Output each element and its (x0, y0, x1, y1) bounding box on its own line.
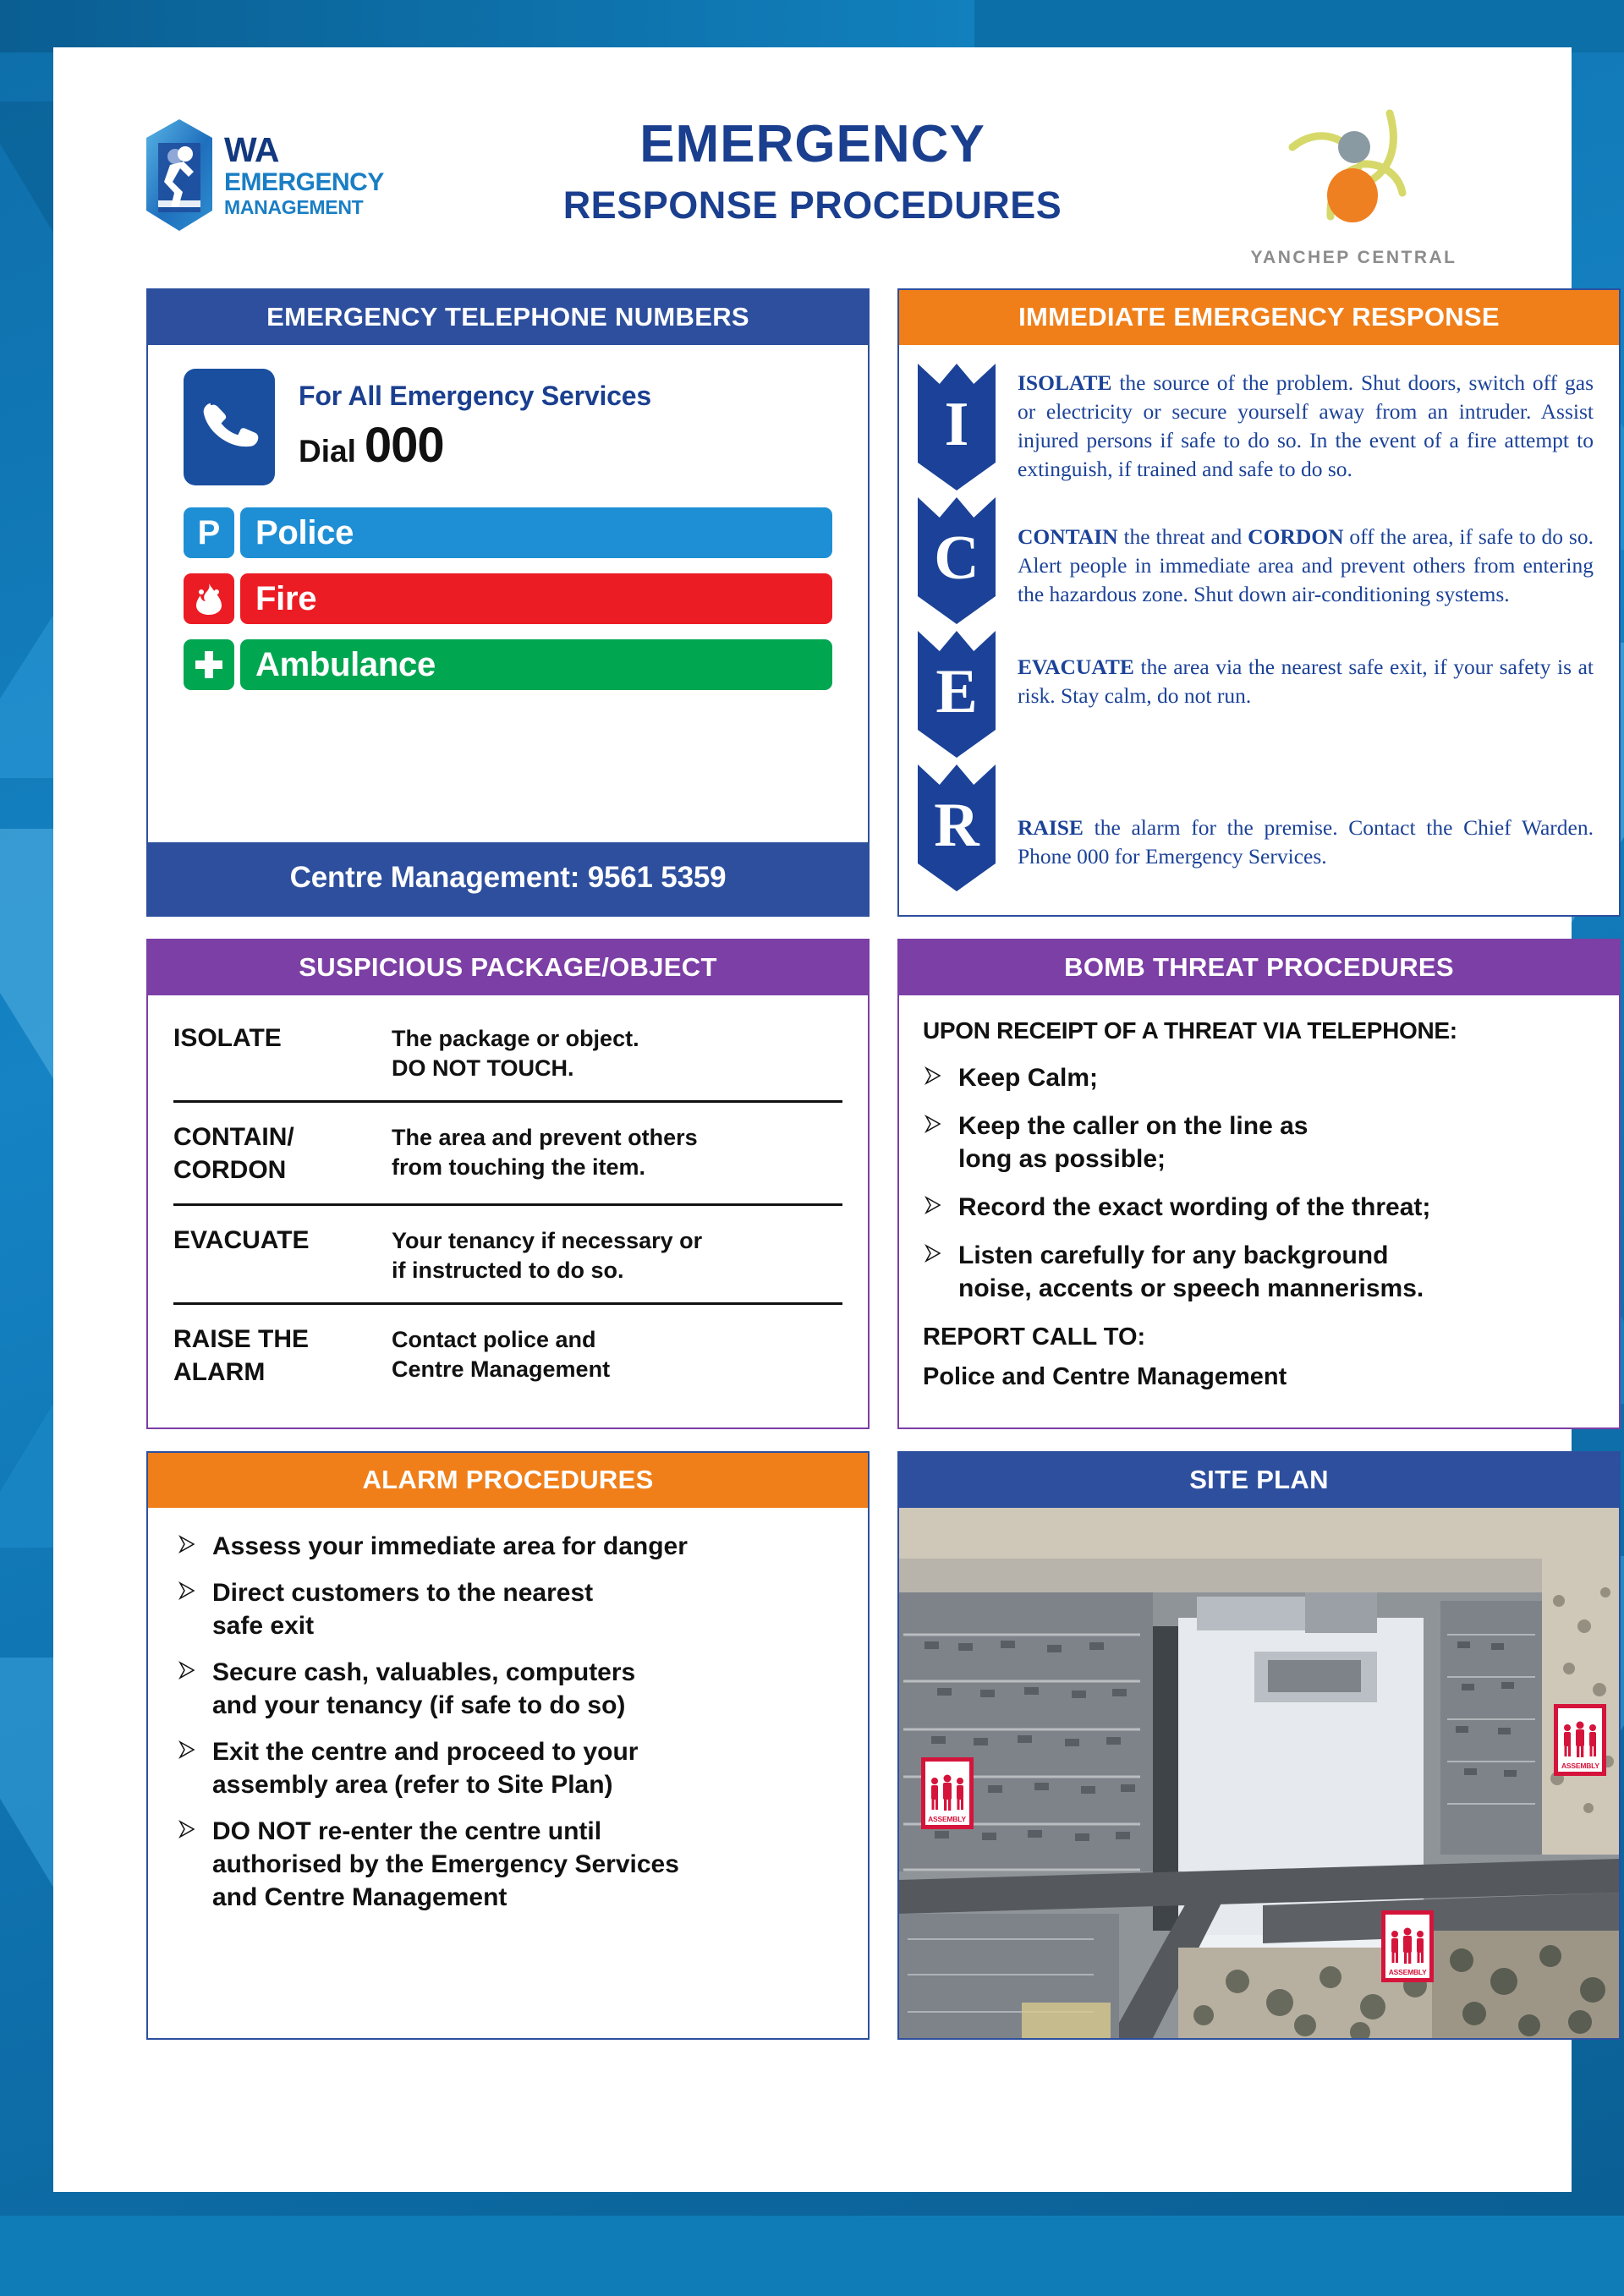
alarm-bullet-text: Exit the centre and proceed to your asse… (212, 1735, 638, 1801)
police-label: Police (240, 507, 832, 558)
site-plan-aerial-image: ASSEMBLY (899, 1508, 1619, 2038)
icer-letter: C (934, 527, 979, 589)
table-row: RAISE THE ALARM Contact police and Centr… (173, 1305, 842, 1406)
icer-letter: I (945, 393, 969, 456)
service-row-ambulance: Ambulance (184, 639, 832, 690)
figure-swoosh-icon (1242, 98, 1466, 246)
site-plan-panel: SITE PLAN (897, 1451, 1621, 2040)
police-p-icon: P (184, 507, 234, 558)
bomb-threat-panel: BOMB THREAT PROCEDURES UPON RECEIPT OF A… (897, 939, 1621, 1429)
assembly-point-marker: ASSEMBLY (921, 1757, 974, 1829)
centre-management-contact: Centre Management: 9561 5359 (148, 842, 868, 915)
chevron-down-icon: R (918, 764, 996, 891)
suspicious-term: ISOLATE (173, 1022, 383, 1083)
immediate-emergency-response-panel: IMMEDIATE EMERGENCY RESPONSE I ISOLATE t… (897, 288, 1621, 917)
poster-header: WA EMERGENCY MANAGEMENT EMERGENCY RESPON… (53, 47, 1572, 288)
assembly-label: ASSEMBLY (1561, 1762, 1599, 1770)
assembly-people-icon (926, 1774, 968, 1813)
arrow-bullet-icon (177, 1735, 199, 1801)
icer-keyword: CONTAIN (1018, 524, 1118, 549)
arrow-bullet-icon (177, 1530, 199, 1563)
bomb-bullet-text: Listen carefully for any background nois… (958, 1239, 1424, 1305)
chevron-down-icon: I (918, 364, 996, 490)
emergency-telephone-panel: EMERGENCY TELEPHONE NUMBERS For All Emer… (146, 288, 870, 917)
icer-keyword: ISOLATE (1018, 370, 1112, 395)
assembly-people-icon (1386, 1927, 1429, 1966)
emergency-telephone-heading: EMERGENCY TELEPHONE NUMBERS (148, 290, 868, 345)
alarm-bullet-text: Direct customers to the nearest safe exi… (212, 1576, 593, 1642)
background-bottom-band (0, 2216, 1624, 2296)
alarm-bullet-text: DO NOT re-enter the centre until authori… (212, 1815, 679, 1914)
list-item: Direct customers to the nearest safe exi… (177, 1576, 846, 1642)
icer-step-evacuate: E EVACUATE the area via the nearest safe… (918, 631, 1594, 758)
icer-step-text: RAISE the alarm for the premise. Contact… (1018, 764, 1594, 891)
arrow-bullet-icon (177, 1576, 199, 1642)
service-row-police: P Police (184, 507, 832, 558)
poster-sheet: WA EMERGENCY MANAGEMENT EMERGENCY RESPON… (53, 47, 1572, 2192)
arrow-bullet-icon (177, 1815, 199, 1914)
table-row: EVACUATE Your tenancy if necessary or if… (173, 1206, 842, 1305)
suspicious-desc: Contact police and Centre Management (392, 1323, 842, 1389)
list-item: Keep the caller on the line as long as p… (923, 1110, 1597, 1175)
list-item: Exit the centre and proceed to your asse… (177, 1735, 846, 1801)
icer-step-text: CONTAIN the threat and CORDON off the ar… (1018, 497, 1594, 624)
icer-body-text: the threat and (1118, 524, 1248, 549)
alarm-procedures-panel: ALARM PROCEDURES Assess your immediate a… (146, 1451, 870, 2040)
icer-letter: R (934, 794, 979, 857)
immediate-emergency-response-heading: IMMEDIATE EMERGENCY RESPONSE (899, 290, 1619, 345)
suspicious-desc: The package or object. DO NOT TOUCH. (392, 1022, 842, 1083)
yanchep-central-name: YANCHEP CENTRAL (1242, 248, 1466, 268)
medical-cross-icon (184, 639, 234, 690)
assembly-point-marker: ASSEMBLY (1381, 1910, 1434, 1982)
arrow-bullet-icon (923, 1061, 945, 1094)
icer-body-text: the alarm for the premise. Contact the C… (1018, 815, 1594, 869)
bomb-bullet-text: Keep the caller on the line as long as p… (958, 1110, 1308, 1175)
report-call-value: Police and Centre Management (923, 1363, 1597, 1391)
icer-step-text: EVACUATE the area via the nearest safe e… (1018, 631, 1594, 758)
arrow-bullet-icon (923, 1239, 945, 1305)
bomb-threat-intro: UPON RECEIPT OF A THREAT VIA TELEPHONE: (923, 1017, 1597, 1044)
list-item: Assess your immediate area for danger (177, 1530, 846, 1563)
aerial-photo-graphic (899, 1508, 1619, 2038)
list-item: Keep Calm; (923, 1061, 1597, 1094)
icer-keyword: EVACUATE (1018, 655, 1134, 679)
suspicious-term: RAISE THE ALARM (173, 1323, 383, 1389)
alarm-bullet-text: Assess your immediate area for danger (212, 1530, 688, 1563)
icer-keyword-2: CORDON (1248, 524, 1343, 549)
assembly-point-marker: ASSEMBLY (1554, 1704, 1606, 1776)
yanchep-central-logo: YANCHEP CENTRAL (1242, 98, 1466, 268)
panel-grid: EMERGENCY TELEPHONE NUMBERS For All Emer… (53, 288, 1572, 2062)
assembly-label: ASSEMBLY (1389, 1968, 1427, 1976)
suspicious-desc: The area and prevent others from touchin… (392, 1121, 842, 1186)
assembly-people-icon (1559, 1721, 1601, 1760)
table-row: CONTAIN/ CORDON The area and prevent oth… (173, 1103, 842, 1206)
flame-icon (184, 573, 234, 624)
arrow-bullet-icon (923, 1110, 945, 1175)
icer-step-text: ISOLATE the source of the problem. Shut … (1018, 364, 1594, 490)
site-plan-heading: SITE PLAN (899, 1453, 1619, 1508)
suspicious-package-panel: SUSPICIOUS PACKAGE/OBJECT ISOLATE The pa… (146, 939, 870, 1429)
assembly-label: ASSEMBLY (928, 1815, 966, 1823)
dial-number: 000 (365, 417, 444, 474)
telephone-icon (184, 369, 275, 485)
suspicious-desc: Your tenancy if necessary or if instruct… (392, 1225, 842, 1285)
all-emergency-services-label: For All Emergency Services (299, 381, 651, 412)
suspicious-term: CONTAIN/ CORDON (173, 1121, 383, 1186)
icer-step-contain: C CONTAIN the threat and CORDON off the … (918, 497, 1594, 624)
chevron-down-icon: C (918, 497, 996, 624)
dial-word: Dial (299, 434, 356, 469)
report-call-label: REPORT CALL TO: (923, 1323, 1597, 1351)
icer-step-raise: R RAISE the alarm for the premise. Conta… (918, 764, 1594, 891)
list-item: DO NOT re-enter the centre until authori… (177, 1815, 846, 1914)
arrow-bullet-icon (177, 1656, 199, 1722)
ambulance-label: Ambulance (240, 639, 832, 690)
bomb-threat-heading: BOMB THREAT PROCEDURES (899, 940, 1619, 995)
arrow-bullet-icon (923, 1191, 945, 1224)
list-item: Secure cash, valuables, computers and yo… (177, 1656, 846, 1722)
table-row: ISOLATE The package or object. DO NOT TO… (173, 1004, 842, 1103)
chevron-down-icon: E (918, 631, 996, 758)
suspicious-term: EVACUATE (173, 1225, 383, 1285)
icer-letter: E (935, 660, 977, 723)
icer-keyword: RAISE (1018, 815, 1084, 840)
icer-step-isolate: I ISOLATE the source of the problem. Shu… (918, 364, 1594, 490)
service-row-fire: Fire (184, 573, 832, 624)
alarm-bullet-text: Secure cash, valuables, computers and yo… (212, 1656, 635, 1722)
background-top-band (0, 0, 1624, 52)
alarm-procedures-heading: ALARM PROCEDURES (148, 1453, 868, 1508)
bomb-bullet-text: Record the exact wording of the threat; (958, 1191, 1430, 1224)
list-item: Record the exact wording of the threat; (923, 1191, 1597, 1224)
list-item: Listen carefully for any background nois… (923, 1239, 1597, 1305)
fire-label: Fire (240, 573, 832, 624)
bomb-bullet-text: Keep Calm; (958, 1061, 1098, 1094)
suspicious-package-heading: SUSPICIOUS PACKAGE/OBJECT (148, 940, 868, 995)
